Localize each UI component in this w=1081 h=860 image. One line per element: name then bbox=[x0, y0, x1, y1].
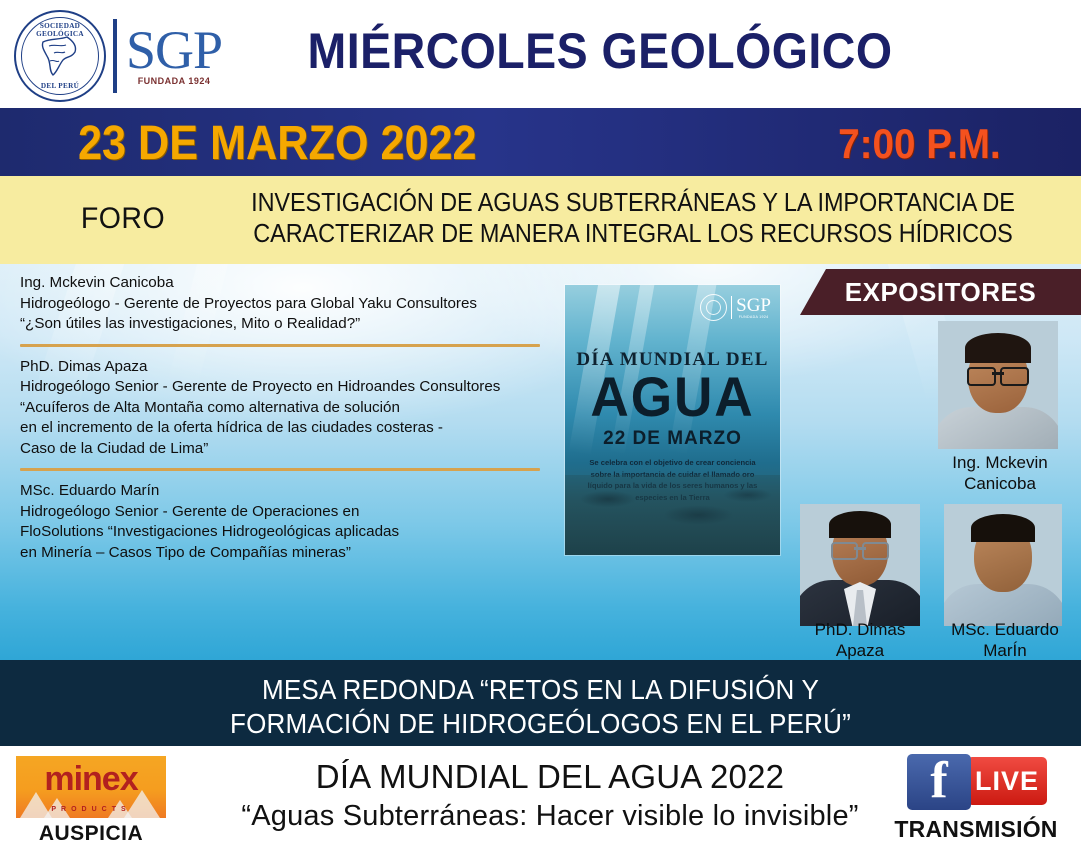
speaker-entry: Ing. Mckevin Canicoba Hidrogeólogo - Ger… bbox=[20, 273, 540, 335]
sgp-logo: SOCIEDAD GEOLÓGICA DEL PERÚ SGP FUNDADA … bbox=[14, 8, 244, 104]
event-date: 23 DE MARZO 2022 bbox=[78, 116, 477, 171]
facebook-f-glyph: f bbox=[907, 752, 971, 810]
sgp-seal-icon bbox=[700, 294, 727, 321]
speaker-talk-line: Caso de la Ciudad de Lima” bbox=[20, 439, 540, 460]
caption-line-1: PhD. Dimas bbox=[790, 619, 930, 640]
foro-band: FORO INVESTIGACIÓN DE AGUAS SUBTERRÁNEAS… bbox=[0, 176, 1081, 264]
foro-title: INVESTIGACIÓN DE AGUAS SUBTERRÁNEAS Y LA… bbox=[233, 188, 1033, 250]
caption-line-2: MarÍn bbox=[930, 640, 1080, 660]
footer-subtitle: “Aguas Subterráneas: Hacer visible lo in… bbox=[230, 800, 870, 833]
poster-heading-large: AGUA bbox=[570, 369, 774, 425]
foro-title-line-2: CARACTERIZAR DE MANERA INTEGRAL LOS RECU… bbox=[233, 219, 1033, 250]
speaker-talk-line: en el incremento de la oferta hídrica de… bbox=[20, 418, 540, 439]
sgp-wordmark: SGP FUNDADA 1924 bbox=[126, 26, 222, 86]
poster-sgp-founded: FUNDADA 1924 bbox=[736, 315, 771, 319]
sgp-seal-icon: SOCIEDAD GEOLÓGICA DEL PERÚ bbox=[14, 10, 106, 102]
speaker-role: Hidrogeólogo Senior - Gerente de Operaci… bbox=[20, 502, 540, 523]
caption-line-1: MSc. Eduardo bbox=[930, 619, 1080, 640]
glasses-icon bbox=[967, 367, 1029, 383]
speaker-name: Ing. Mckevin Canicoba bbox=[20, 273, 540, 294]
poster-sgp-abbrev: SGP bbox=[736, 296, 771, 315]
event-time: 7:00 P.M. bbox=[838, 120, 1001, 168]
speaker-entry: PhD. Dimas Apaza Hidrogeólogo Senior - G… bbox=[20, 357, 540, 460]
photo-hair bbox=[965, 333, 1031, 363]
poster-sgp-wordmark: SGP FUNDADA 1924 bbox=[736, 296, 771, 319]
photo-hair bbox=[829, 511, 891, 538]
divider bbox=[20, 468, 540, 471]
minex-sponsor-logo: minex PRODUCTS bbox=[16, 756, 166, 818]
speaker-photo-marin bbox=[944, 504, 1062, 626]
speaker-talk-line: “¿Son útiles las investigaciones, Mito o… bbox=[20, 314, 540, 335]
mesa-line-2: FORMACIÓN DE HIDROGEÓLOGOS EN EL PERÚ” bbox=[38, 708, 1043, 740]
speaker-talk-line: en Minería – Casos Tipo de Compañías min… bbox=[20, 543, 540, 564]
mesa-redonda-band: MESA REDONDA “RETOS EN LA DIFUSIÓN Y FOR… bbox=[0, 660, 1081, 746]
caption-line-2: Canicoba bbox=[930, 473, 1070, 494]
speaker-photo-caption: MSc. Eduardo MarÍn bbox=[930, 619, 1080, 660]
caption-line-1: Ing. Mckevin bbox=[930, 452, 1070, 473]
mesa-line-1: MESA REDONDA “RETOS EN LA DIFUSIÓN Y bbox=[38, 674, 1043, 706]
speaker-photo-canicoba bbox=[938, 321, 1058, 449]
poster-header: SOCIEDAD GEOLÓGICA DEL PERÚ SGP FUNDADA … bbox=[0, 0, 1081, 108]
seafloor-graphic bbox=[565, 475, 780, 555]
divider bbox=[20, 344, 540, 347]
expositores-label: EXPOSITORES bbox=[845, 277, 1036, 308]
page-title: MIÉRCOLES GEOLÓGICO bbox=[275, 22, 926, 80]
speaker-name: MSc. Eduardo Marín bbox=[20, 481, 540, 502]
poster-sgp-logo: SGP FUNDADA 1924 bbox=[700, 294, 771, 321]
caption-line-2: Apaza bbox=[790, 640, 930, 660]
date-bar: 23 DE MARZO 2022 7:00 P.M. bbox=[0, 108, 1081, 176]
water-day-poster: SGP FUNDADA 1924 DÍA MUNDIAL DEL AGUA 22… bbox=[565, 285, 780, 555]
photo-hair bbox=[971, 514, 1035, 542]
foro-label: FORO bbox=[52, 202, 195, 236]
footer-title: DÍA MUNDIAL DEL AGUA 2022 bbox=[230, 758, 870, 796]
poster-footer: minex PRODUCTS AUSPICIA DÍA MUNDIAL DEL … bbox=[0, 746, 1081, 860]
minex-subtext: PRODUCTS bbox=[16, 806, 166, 813]
sgp-abbrev: SGP bbox=[126, 26, 222, 74]
seal-bottom-text: DEL PERÚ bbox=[16, 82, 104, 90]
speaker-photo-caption: Ing. Mckevin Canicoba bbox=[930, 452, 1070, 494]
facebook-live-badge: LIVE f bbox=[907, 754, 1047, 810]
poster-body: Ing. Mckevin Canicoba Hidrogeólogo - Ger… bbox=[0, 264, 1081, 660]
sgp-founded: FUNDADA 1924 bbox=[126, 76, 222, 86]
photo-body bbox=[938, 407, 1058, 449]
speaker-photo-apaza bbox=[800, 504, 920, 626]
minex-wordmark: minex bbox=[16, 762, 166, 796]
speaker-photo-caption: PhD. Dimas Apaza bbox=[790, 619, 930, 660]
speaker-entry: MSc. Eduardo Marín Hidrogeólogo Senior -… bbox=[20, 481, 540, 563]
live-label: LIVE bbox=[967, 757, 1047, 805]
logo-divider bbox=[731, 296, 733, 319]
peru-map-icon bbox=[37, 34, 83, 78]
speaker-role: Hidrogeólogo Senior - Gerente de Proyect… bbox=[20, 377, 540, 398]
speaker-name: PhD. Dimas Apaza bbox=[20, 357, 540, 378]
speaker-talk-line: FloSolutions “Investigaciones Hidrogeoló… bbox=[20, 522, 540, 543]
speaker-role: Hidrogeólogo - Gerente de Proyectos para… bbox=[20, 294, 540, 315]
speaker-talk-line: “Acuíferos de Alta Montaña como alternat… bbox=[20, 398, 540, 419]
glasses-icon bbox=[831, 542, 889, 557]
foro-title-line-1: INVESTIGACIÓN DE AGUAS SUBTERRÁNEAS Y LA… bbox=[233, 188, 1033, 219]
speaker-list: Ing. Mckevin Canicoba Hidrogeólogo - Ger… bbox=[20, 273, 540, 563]
auspicia-label: AUSPICIA bbox=[16, 822, 166, 846]
transmision-label: TRANSMISIÓN bbox=[891, 816, 1061, 843]
event-poster: SOCIEDAD GEOLÓGICA DEL PERÚ SGP FUNDADA … bbox=[0, 0, 1081, 860]
logo-divider bbox=[113, 19, 117, 93]
poster-date: 22 DE MARZO bbox=[565, 428, 780, 450]
expositores-banner: EXPOSITORES bbox=[800, 269, 1081, 315]
